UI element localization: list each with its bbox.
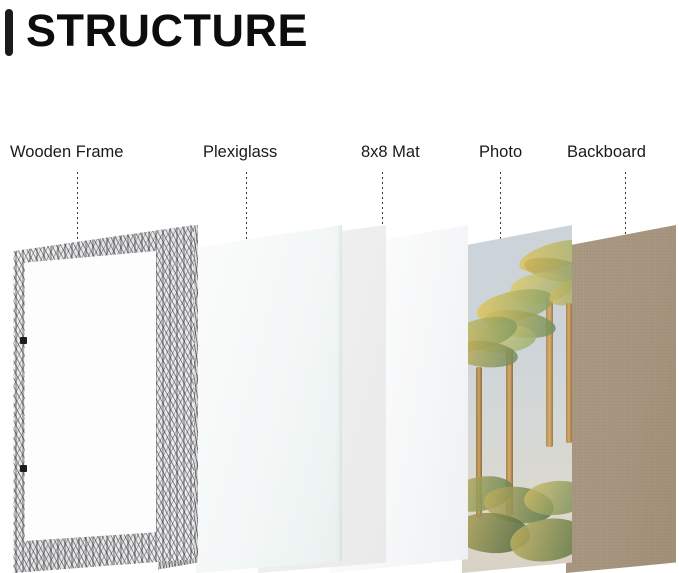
label-wooden-frame: Wooden Frame bbox=[10, 142, 123, 162]
layer-backboard bbox=[566, 225, 676, 573]
layer-plexiglass bbox=[196, 225, 342, 573]
layer-photo bbox=[462, 225, 572, 573]
structure-infographic: STRUCTURE Wooden Frame Plexiglass 8x8 Ma… bbox=[0, 0, 679, 573]
frame-hardware-tab-upper bbox=[20, 337, 27, 344]
layer-wooden-frame bbox=[8, 225, 200, 573]
frame-hardware-tab-lower bbox=[20, 465, 27, 472]
frame-opening bbox=[22, 251, 156, 541]
accent-bar bbox=[5, 9, 13, 56]
page-title: STRUCTURE bbox=[26, 2, 308, 60]
label-plexiglass: Plexiglass bbox=[203, 142, 277, 162]
label-mat: 8x8 Mat bbox=[361, 142, 420, 162]
label-backboard: Backboard bbox=[567, 142, 646, 162]
photo-artwork-palm-trees bbox=[462, 225, 572, 573]
label-photo: Photo bbox=[479, 142, 522, 162]
exploded-layer-stack bbox=[0, 225, 679, 573]
header: STRUCTURE bbox=[0, 0, 679, 70]
